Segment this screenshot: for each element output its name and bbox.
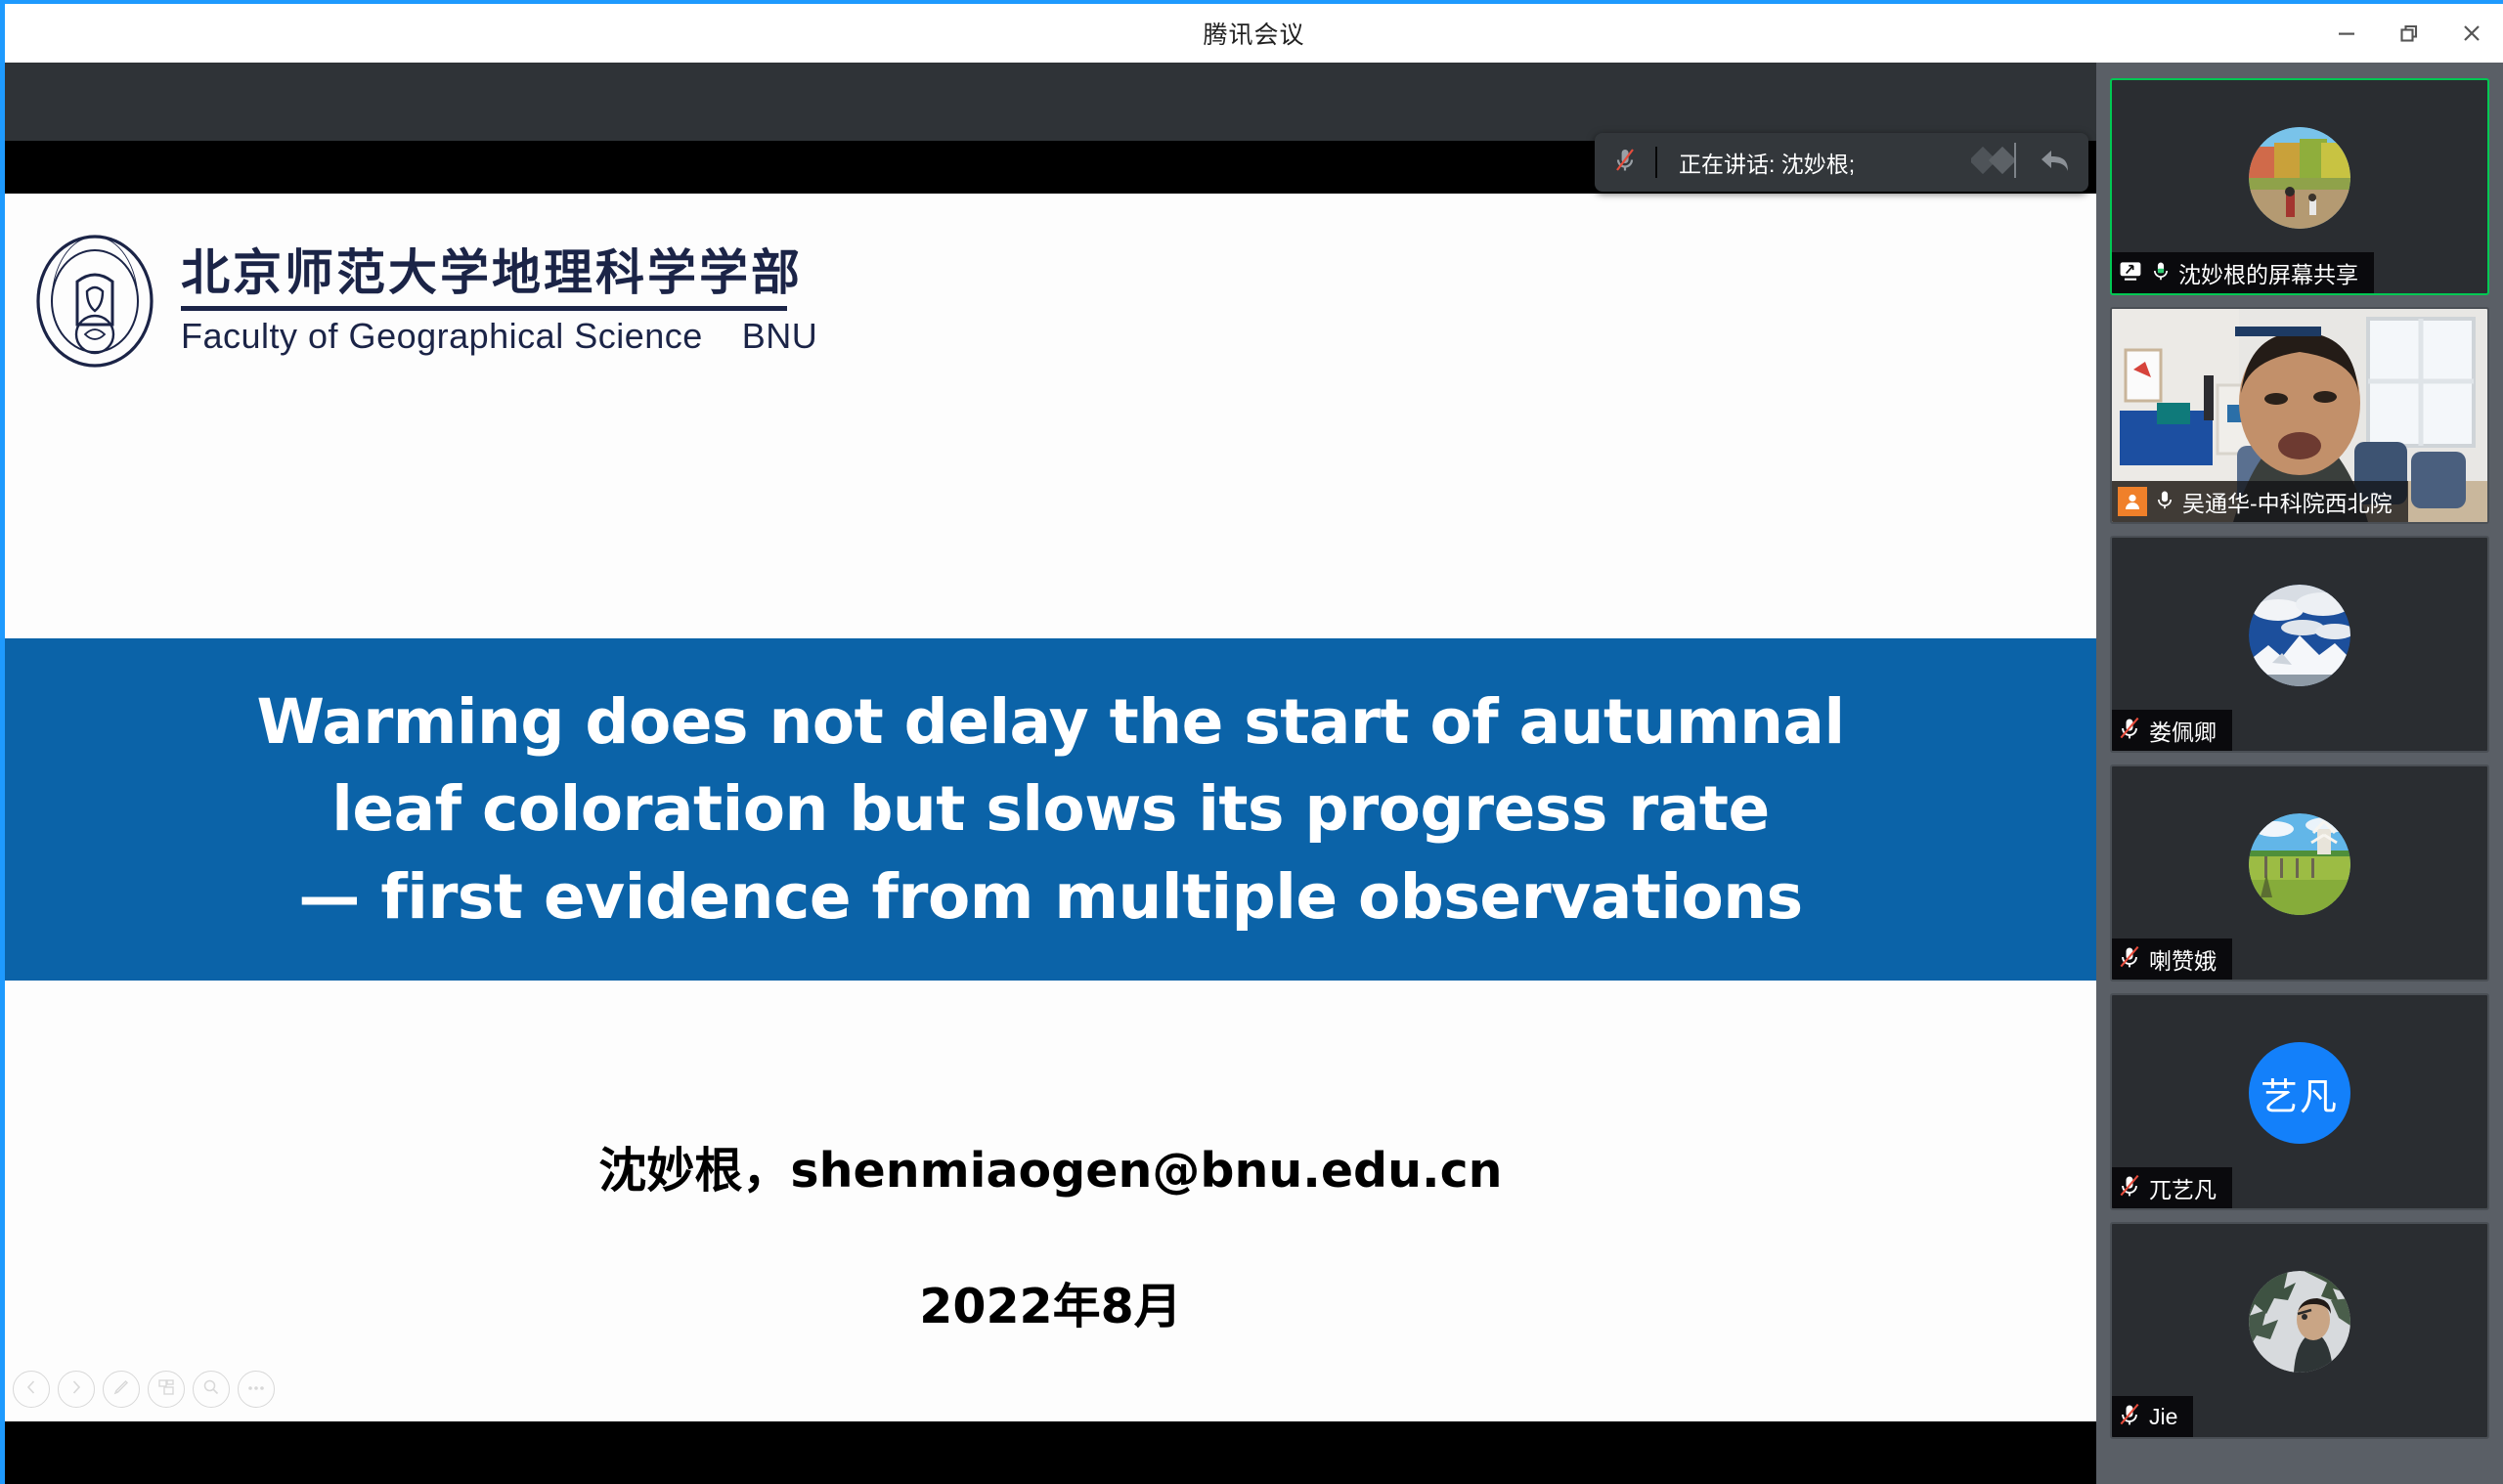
previous-page-button[interactable] — [13, 1371, 50, 1408]
more-options-button[interactable] — [238, 1371, 275, 1408]
slide-date-line: 2022年8月 — [919, 1268, 1181, 1337]
speaking-toolbar-actions — [1971, 138, 2088, 188]
close-icon — [2459, 21, 2484, 46]
minimize-icon — [2334, 21, 2359, 46]
avatar — [2249, 813, 2350, 915]
participant-sidebar[interactable]: 沈妙根的屏幕共享 — [2096, 63, 2503, 1484]
mic-muted-icon — [2118, 1173, 2141, 1203]
logo-abbrev: BNU — [742, 316, 818, 357]
magnifier-icon — [201, 1377, 221, 1402]
ellipsis-icon — [245, 1380, 267, 1398]
slide-title-line-2: leaf coloration but slows its progress r… — [331, 765, 1769, 852]
slide-author-block: 沈妙根，shenmiaogen@bnu.edu.cn 2022年8月 — [5, 1132, 2096, 1337]
mic-on-icon — [2155, 488, 2174, 516]
chevron-left-icon — [22, 1378, 40, 1401]
avatar — [2249, 127, 2350, 229]
collapse-chevrons-icon[interactable] — [1971, 138, 2032, 188]
zoom-search-button[interactable] — [193, 1371, 230, 1408]
avatar: 艺凡 — [2249, 1042, 2350, 1144]
screen-share-icon — [2118, 258, 2143, 288]
logo-english-name: Faculty of Geographical Science — [181, 316, 703, 357]
avatar — [2249, 1271, 2350, 1373]
logo-chinese-name: 北京师范大学地理科学学部 — [181, 245, 817, 302]
window-title: 腾讯会议 — [1203, 16, 1304, 51]
pdf-mini-toolbar[interactable] — [13, 1371, 275, 1408]
minimize-button[interactable] — [2315, 4, 2378, 63]
participant-name-bar: 娄佩卿 — [2112, 710, 2232, 751]
toolbar-divider — [1655, 147, 1657, 178]
shared-screen-stage: 正在讲话: 沈妙根; — [5, 63, 2096, 1484]
participant-name-bar: 兀艺凡 — [2112, 1167, 2232, 1208]
slide-title-line-1: Warming does not delay the start of autu… — [256, 678, 1844, 765]
avatar-initials: 艺凡 — [2261, 1067, 2339, 1120]
participant-tile[interactable]: 吴通华-中科院西北院 — [2110, 307, 2489, 524]
participant-name-bar: 喇赞娥 — [2112, 938, 2232, 980]
logo-rule — [181, 306, 787, 311]
bnu-seal-icon — [34, 233, 155, 370]
stage-bottom-band — [5, 1421, 2096, 1484]
participant-tile[interactable]: 喇赞娥 — [2110, 764, 2489, 982]
speaking-toolbar[interactable]: 正在讲话: 沈妙根; — [1595, 133, 2088, 192]
participant-name-bar: Jie — [2112, 1396, 2193, 1437]
participant-tile[interactable]: 沈妙根的屏幕共享 — [2110, 78, 2489, 295]
stage-top-strip — [5, 63, 2096, 141]
logo-english-block: Faculty of Geographical Science BNU — [181, 316, 817, 357]
mic-mute-toggle[interactable] — [1595, 144, 1655, 182]
participant-tile[interactable]: 娄佩卿 — [2110, 536, 2489, 753]
participant-name: Jie — [2149, 1404, 2177, 1430]
slide-author-line: 沈妙根，shenmiaogen@bnu.edu.cn — [598, 1132, 1502, 1201]
slide-title-band: Warming does not delay the start of autu… — [5, 638, 2096, 981]
avatar — [2249, 585, 2350, 686]
participant-name: 兀艺凡 — [2149, 1171, 2217, 1204]
thumbnails-icon — [156, 1377, 176, 1402]
window-controls — [2315, 4, 2503, 63]
title-bar: 腾讯会议 — [5, 4, 2503, 63]
restore-icon — [2396, 21, 2422, 46]
mic-muted-icon — [2118, 944, 2141, 975]
mic-muted-icon — [2118, 1402, 2141, 1432]
speaking-status-text: 正在讲话: 沈妙根; — [1657, 146, 1971, 179]
restore-button[interactable] — [2378, 4, 2440, 63]
pen-icon — [111, 1377, 131, 1402]
meeting-window: 腾讯会议 — [0, 0, 2503, 1484]
participant-name-bar: 沈妙根的屏幕共享 — [2112, 252, 2374, 293]
participant-name-bar: 吴通华-中科院西北院 — [2112, 481, 2408, 522]
thumbnails-button[interactable] — [148, 1371, 185, 1408]
next-page-button[interactable] — [58, 1371, 95, 1408]
slide-title-line-3: — first evidence from multiple observati… — [298, 853, 1802, 940]
participant-tile[interactable]: Jie — [2110, 1222, 2489, 1439]
participant-tile[interactable]: 艺凡 兀艺凡 — [2110, 993, 2489, 1210]
participant-name: 吴通华-中科院西北院 — [2182, 485, 2393, 518]
chevron-right-icon — [67, 1378, 85, 1401]
mic-muted-icon — [1608, 144, 1642, 182]
logo-text-block: 北京师范大学地理科学学部 Faculty of Geographical Sci… — [181, 245, 817, 357]
host-badge-icon — [2118, 487, 2147, 516]
participant-name: 喇赞娥 — [2149, 942, 2217, 976]
pdf-slide[interactable]: 北京师范大学地理科学学部 Faculty of Geographical Sci… — [5, 194, 2096, 1421]
mic-muted-icon — [2118, 716, 2141, 746]
close-button[interactable] — [2440, 4, 2503, 63]
bnu-logo: 北京师范大学地理科学学部 Faculty of Geographical Sci… — [34, 233, 817, 370]
mic-on-icon — [2151, 259, 2171, 287]
participant-name: 娄佩卿 — [2149, 714, 2217, 747]
annotate-button[interactable] — [103, 1371, 140, 1408]
back-arrow-icon[interactable] — [2036, 141, 2077, 185]
participant-name: 沈妙根的屏幕共享 — [2178, 256, 2358, 289]
